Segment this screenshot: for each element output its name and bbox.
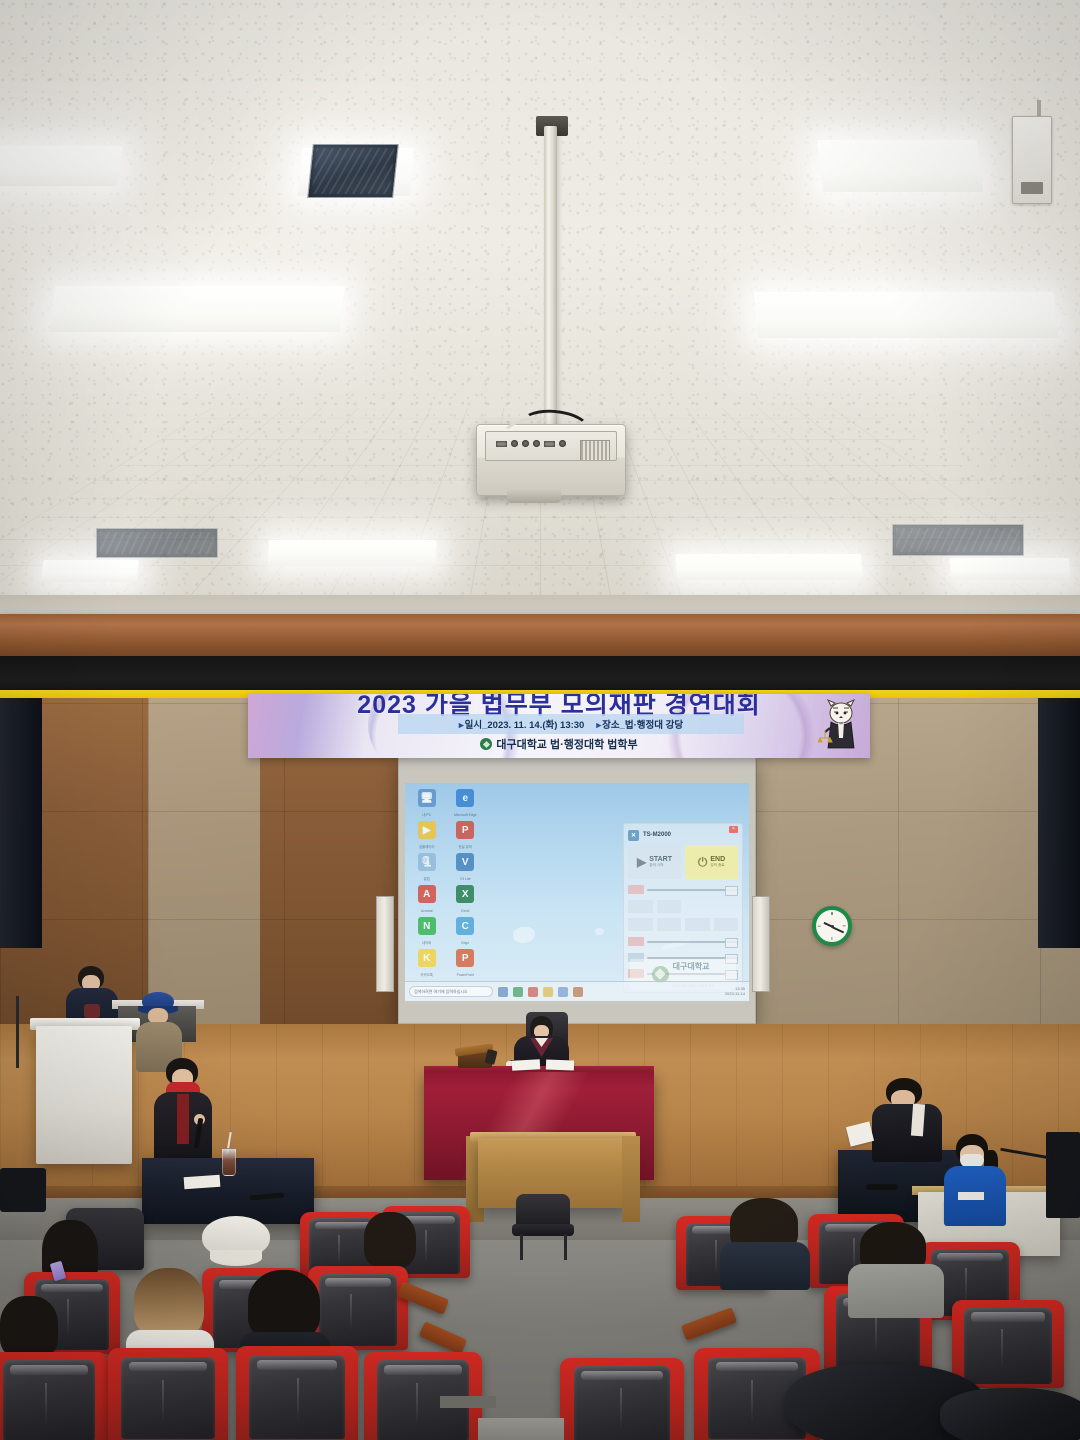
mic-slider[interactable] [647,941,738,943]
desktop-icon-label: 네이버 [409,940,445,945]
desktop-icon-glyph: V [456,853,474,871]
banner-place-text: 장소_법·행정대 강당 [602,720,683,731]
aisle-rail-base [440,1396,496,1408]
desktop-icon-glyph: K [418,949,436,967]
person-defense-counsel [872,1078,944,1160]
auditorium-seat[interactable] [108,1348,228,1440]
seat-highlight [162,1380,164,1423]
av-rack [1046,1132,1080,1218]
witness-stand-side-right [622,1136,640,1222]
bullet-icon: ▸ [459,720,464,731]
desktop-icon-label: 곰플레이어 [409,844,445,849]
audience-suit-grey [848,1264,944,1318]
ceiling-light-panel [675,554,863,580]
ceiling-light-panel [49,286,345,332]
copper-beam [0,614,1080,660]
uniform-name-tag [958,1192,984,1200]
person-audience [720,1198,810,1284]
seat-cushion [574,1366,671,1440]
desktop-icon-glyph: X [456,885,474,903]
volume-tag [628,885,644,894]
wall-panel-seams [148,698,260,1028]
taskbar-icon[interactable] [558,987,568,997]
seat-highlight [425,1230,427,1262]
university-name-kr: 대구대학교 [673,962,710,971]
clock-mark [831,937,832,940]
desktop-icon[interactable]: 🖥내 PC [409,787,445,817]
desktop-icon-label: V3 Lite [448,877,484,881]
desktop-icon[interactable]: VV3 Lite [448,851,484,881]
ceiling-light-panel [0,146,123,186]
ceiling-air-vent [96,528,218,558]
chair-backrest [516,1194,570,1228]
desktop-icon-label: 카카오톡 [409,972,445,977]
projector-exhaust-vent [580,440,610,461]
taskbar-icon[interactable] [573,987,583,997]
clock-mark [843,925,846,926]
seat-highlight [751,1380,753,1423]
desktop-icon-glyph: N [418,917,436,935]
end-label-group: END 강의 종료 [710,856,725,868]
ceiling-sensor [1012,116,1052,204]
lecture-start-button[interactable]: ▶ START 강의 시작 [628,845,681,879]
device-button-row [628,918,738,931]
auditorium-seat[interactable] [560,1358,684,1440]
panel-app-icon: ✕ [628,830,639,841]
desktop-icon-glyph: 🖥 [418,789,436,807]
audience-jacket [720,1242,810,1290]
ceiling-sensor-stem [1037,100,1041,116]
seat-cushion [3,1360,95,1440]
start-label: START [649,856,672,863]
seat-highlight [45,1383,47,1425]
bullet-icon: ▸ [596,720,601,731]
right-desk-microphone [866,1184,898,1190]
taskbar-icon[interactable] [528,987,538,997]
desktop-icon-glyph: A [418,885,436,903]
taskbar-clock-date: 2023-11-14 [725,991,745,996]
cap-brim [210,1250,262,1266]
desktop-icon[interactable]: P한글 뷰어 [448,819,484,849]
ceiling-light-panel [754,292,1059,338]
wallpaper-island [595,928,604,935]
mic-tag [628,937,644,946]
desktop-icon-glyph: P [456,949,474,967]
seat-cushion [121,1357,215,1440]
source-button[interactable] [657,900,682,913]
desktop-icon-label: 알집 [409,876,445,881]
panel-app-name: TS-M2000 [643,832,671,838]
desktop-icon-glyph: e [456,789,474,807]
source-button-row [628,900,738,913]
clock-mark [818,925,821,926]
chair-leg [520,1234,523,1260]
banner-place: ▸장소_법·행정대 강당 [596,717,683,731]
desktop-icon[interactable]: PPowerPoint [448,947,484,977]
end-sublabel: 강의 종료 [710,863,725,868]
person-audience [848,1222,944,1314]
volume-slider-row[interactable] [628,884,738,895]
ceiling-light-panel [949,558,1071,580]
panel-close-button[interactable]: × [729,826,738,833]
taskbar-clock[interactable]: 13:35 2023-11-14 [725,987,745,996]
desktop-icon-glyph: P [456,821,474,839]
banner-organizer-text: 대구대학교 법·행정대학 법학부 [496,736,637,752]
seat-highlight [297,1378,299,1422]
seat-highlight [350,1294,352,1332]
taskbar-icon[interactable] [498,987,508,997]
seat-highlight [715,1240,717,1273]
desktop-icon-label: Edge [448,941,484,945]
organizer-logo-icon [480,738,492,750]
auditorium-seat[interactable] [0,1352,108,1440]
stage-speaker-right [752,896,770,992]
play-icon: ▶ [637,855,646,869]
projector-lens-housing [507,489,561,503]
person-operator [66,966,120,1026]
draped-coat [940,1388,1080,1440]
podium-lamp-stem [16,996,19,1068]
projector-drop-pole [544,126,557,436]
clock-mark [831,912,832,915]
seat-highlight [875,1314,877,1352]
projection-screen: 🖥내 PC eMicrosoft Edge ▶곰플레이어 P한글 뷰어 🗜알집 … [405,783,749,1001]
desktop-icon-glyph: C [456,917,474,935]
seat-highlight [620,1388,622,1429]
banner-date-text: 일시_2023. 11. 14.(화) 13:30 [465,720,585,731]
auditorium-seat[interactable] [952,1300,1064,1388]
desktop-icon[interactable]: eMicrosoft Edge [448,787,484,817]
ceiling-air-vent [892,524,1024,556]
desktop-icon-glyph: ▶ [418,821,436,839]
lecture-end-button[interactable]: ⏻ END 강의 종료 [685,845,738,879]
person-defendant [944,1134,1008,1226]
audience-hair [248,1270,320,1340]
device-button[interactable] [657,918,682,931]
audience-hair [364,1212,416,1268]
seat-highlight [416,1383,418,1425]
start-label-group: START 강의 시작 [649,856,672,868]
desktop-icon[interactable]: AAcrobat [409,883,445,913]
daegu-university-mark [652,966,669,983]
counsel-robe [872,1104,942,1162]
desktop-icon-label: 한글 뷰어 [448,844,484,849]
mic-slider-row[interactable] [628,936,738,947]
ceiling-light-panel [817,140,983,192]
volume-slider[interactable] [647,889,738,891]
prosecutor-robe-lapel [177,1094,189,1144]
ceiling-air-vent [307,144,399,198]
audience-hair [0,1296,58,1358]
ceiling [0,0,1080,612]
wall-clock [812,906,852,946]
banner-datetime: ▸일시_2023. 11. 14.(화) 13:30 [459,717,585,731]
counsel-white-stole [911,1104,925,1137]
clock-minute-hand [832,926,844,933]
device-button[interactable] [628,918,653,931]
panel-main-buttons: ▶ START 강의 시작 ⏻ END 강의 종료 [628,845,738,879]
stage-curtain-left [0,698,42,948]
device-button[interactable] [714,918,739,931]
judge-document [546,1060,574,1071]
desktop-icon[interactable]: ▶곰플레이어 [409,819,445,849]
event-banner: 2023 가을 법무부 모의재판 경연대회 ▸일시_2023. 11. 14.(… [248,694,870,758]
aisle-step [478,1418,564,1440]
end-label: END [710,856,725,863]
judge-document [512,1059,540,1070]
desktop-icon-label: Excel [448,909,484,913]
desktop-icon-label: Acrobat [409,909,445,913]
banner-info-bar: ▸일시_2023. 11. 14.(화) 13:30 ▸장소_법·행정대 강당 [398,714,744,734]
drink-cup [222,1148,236,1176]
desktop-icon-label: Microsoft Edge [448,813,484,817]
seat-highlight [1001,1329,1003,1368]
stage-curtain-right [1038,698,1080,948]
ceiling-light-panel [267,540,437,566]
taskbar-icon[interactable] [543,987,553,997]
person-audience [360,1212,420,1270]
audience-hair-blonde [134,1268,204,1338]
desktop-icon-glyph: 🗜 [418,853,436,871]
auditorium-photo: 🖥내 PC eMicrosoft Edge ▶곰플레이어 P한글 뷰어 🗜알집 … [0,0,1080,1440]
seat-cushion [964,1308,1051,1384]
desk-document [184,1175,221,1189]
desktop-icon-grid: 🖥내 PC eMicrosoft Edge ▶곰플레이어 P한글 뷰어 🗜알집 … [409,787,483,979]
ts-m2000-control-panel[interactable]: × ✕ TS-M2000 ▶ START 강의 시작 ⏻ [623,823,743,993]
desktop-icon[interactable]: XExcel [448,883,484,913]
start-sublabel: 강의 시작 [649,863,672,868]
seat-cushion [249,1355,344,1439]
wallpaper-island [513,927,535,943]
seat-highlight [965,1268,967,1303]
ceiling-light-panel [41,560,139,582]
panel-title-bar: ✕ TS-M2000 [628,828,738,842]
banner-organizer: 대구대학교 법·행정대학 법학부 [248,735,870,753]
desktop-icon-label: 내 PC [409,812,445,817]
stage-back-wall-center [148,698,260,1028]
chair-leg [564,1234,567,1260]
desktop-icon[interactable]: 🗜알집 [409,851,445,881]
windows-taskbar[interactable]: 검색하려면 여기에 입력하십시오 13:35 2023-11-14 [405,981,749,1001]
desktop-icon-label: PowerPoint [448,973,484,977]
stage-speaker-left [376,896,394,992]
operator-shirt-graphic [84,1004,100,1018]
monitor-back [0,1168,46,1212]
tiger-judge-mascot-icon [818,698,864,754]
taskbar-search-box[interactable]: 검색하려면 여기에 입력하십시오 [409,986,493,997]
taskbar-icon[interactable] [513,987,523,997]
clock-center-pin [831,925,834,928]
desktop-icon[interactable]: K카카오톡 [409,947,445,977]
projection-screen-frame: 🖥내 PC eMicrosoft Edge ▶곰플레이어 P한글 뷰어 🗜알집 … [398,756,756,1024]
lectern-podium [36,1026,132,1164]
desktop-icon[interactable]: CEdge [448,915,484,945]
witness-chair [512,1194,574,1250]
power-icon: ⏻ [698,855,708,870]
desktop-icon[interactable]: N네이버 [409,915,445,945]
auditorium-seat[interactable] [236,1346,358,1440]
device-button[interactable] [685,918,710,931]
seat-highlight [338,1235,340,1266]
source-button[interactable] [628,900,653,913]
